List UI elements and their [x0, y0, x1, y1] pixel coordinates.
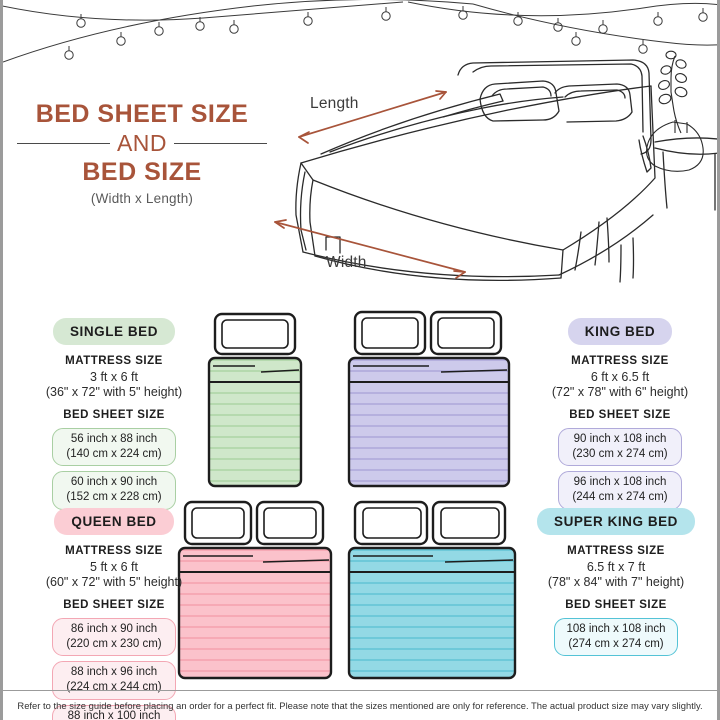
- title-line-2: BED SIZE: [17, 158, 267, 187]
- bed-sheet-size-heading-king: BED SHEET SIZE: [515, 409, 720, 421]
- sheet-inches: 60 inch x 90 inch: [71, 476, 157, 488]
- badge-queen-bed: QUEEN BED: [54, 508, 173, 535]
- mattress-inches-single: (36" x 72" with 5" height): [9, 385, 219, 399]
- disclaimer-text: Refer to the size guide before placing a…: [17, 700, 702, 711]
- bed-sheet-size-heading-queen: BED SHEET SIZE: [9, 599, 219, 611]
- mattress-inches-queen: (60" x 72" with 5" height): [9, 575, 219, 589]
- sheet-cm: (244 cm x 274 cm): [563, 490, 677, 505]
- page-title: BED SHEET SIZE AND BED SIZE (Width x Len…: [17, 100, 267, 206]
- sheet-size-list-single: 56 inch x 88 inch (140 cm x 224 cm) 60 i…: [9, 428, 219, 510]
- sheet-inches: 108 inch x 108 inch: [566, 623, 665, 635]
- mattress-feet-superking: 6.5 ft x 7 ft: [511, 560, 720, 574]
- sheet-inches: 96 inch x 108 inch: [574, 476, 667, 488]
- sheet-cm: (220 cm x 230 cm): [57, 637, 171, 652]
- bed-panel-superking: SUPER KING BED MATTRESS SIZE 6.5 ft x 7 …: [511, 508, 720, 656]
- mattress-size-heading-single: MATTRESS SIZE: [9, 355, 219, 367]
- sheet-cm: (230 cm x 274 cm): [563, 447, 677, 462]
- title-connector: AND: [110, 130, 174, 157]
- bed-panel-king: KING BED MATTRESS SIZE 6 ft x 6.5 ft (72…: [515, 318, 720, 510]
- bed-panel-queen: QUEEN BED MATTRESS SIZE 5 ft x 6 ft (60"…: [9, 508, 219, 720]
- sheet-size-option: 108 inch x 108 inch (274 cm x 274 cm): [554, 618, 678, 656]
- length-arrow-label: Length: [310, 95, 359, 113]
- mattress-size-heading-superking: MATTRESS SIZE: [511, 545, 720, 557]
- title-line-1: BED SHEET SIZE: [17, 100, 267, 129]
- sheet-size-option: 60 inch x 90 inch (152 cm x 228 cm): [52, 471, 176, 509]
- mattress-feet-king: 6 ft x 6.5 ft: [515, 370, 720, 384]
- sheet-size-option: 96 inch x 108 inch (244 cm x 274 cm): [558, 471, 682, 509]
- sheet-size-option: 86 inch x 90 inch (220 cm x 230 cm): [52, 618, 176, 656]
- title-subtitle: (Width x Length): [17, 191, 267, 206]
- mattress-inches-superking: (78" x 84" with 7" height): [511, 575, 720, 589]
- footer-disclaimer: Refer to the size guide before placing a…: [3, 690, 717, 720]
- sheet-size-option: 90 inch x 108 inch (230 cm x 274 cm): [558, 428, 682, 466]
- hero-illustration: BED SHEET SIZE AND BED SIZE (Width x Len…: [3, 0, 720, 290]
- bed-sheet-size-heading-single: BED SHEET SIZE: [9, 409, 219, 421]
- infographic-page: BED SHEET SIZE AND BED SIZE (Width x Len…: [0, 0, 720, 720]
- badge-super-king-bed: SUPER KING BED: [537, 508, 695, 535]
- sheet-cm: (140 cm x 224 cm): [57, 447, 171, 462]
- sheet-inches: 90 inch x 108 inch: [574, 433, 667, 445]
- rule-right: [174, 143, 267, 144]
- mattress-inches-king: (72" x 78" with 6" height): [515, 385, 720, 399]
- badge-king-bed: KING BED: [568, 318, 672, 345]
- sheet-size-option: 56 inch x 88 inch (140 cm x 224 cm): [52, 428, 176, 466]
- sheet-size-list-superking: 108 inch x 108 inch (274 cm x 274 cm): [511, 618, 720, 656]
- bed-diagram-superking: [337, 496, 523, 686]
- sheet-inches: 88 inch x 96 inch: [71, 666, 157, 678]
- sheet-inches: 86 inch x 90 inch: [71, 623, 157, 635]
- mattress-feet-single: 3 ft x 6 ft: [9, 370, 219, 384]
- width-arrow-label: Width: [326, 254, 367, 272]
- bed-panel-single: SINGLE BED MATTRESS SIZE 3 ft x 6 ft (36…: [9, 318, 219, 510]
- sheet-inches: 56 inch x 88 inch: [71, 433, 157, 445]
- sheet-cm: (274 cm x 274 cm): [559, 637, 673, 652]
- bed-diagram-king: [337, 306, 517, 494]
- mattress-feet-queen: 5 ft x 6 ft: [9, 560, 219, 574]
- rule-left: [17, 143, 110, 144]
- sheet-cm: (152 cm x 228 cm): [57, 490, 171, 505]
- sheet-size-list-king: 90 inch x 108 inch (230 cm x 274 cm) 96 …: [515, 428, 720, 510]
- badge-single-bed: SINGLE BED: [53, 318, 175, 345]
- title-connector-row: AND: [17, 130, 267, 157]
- bed-sheet-size-heading-superking: BED SHEET SIZE: [511, 599, 720, 611]
- mattress-size-heading-queen: MATTRESS SIZE: [9, 545, 219, 557]
- mattress-size-heading-king: MATTRESS SIZE: [515, 355, 720, 367]
